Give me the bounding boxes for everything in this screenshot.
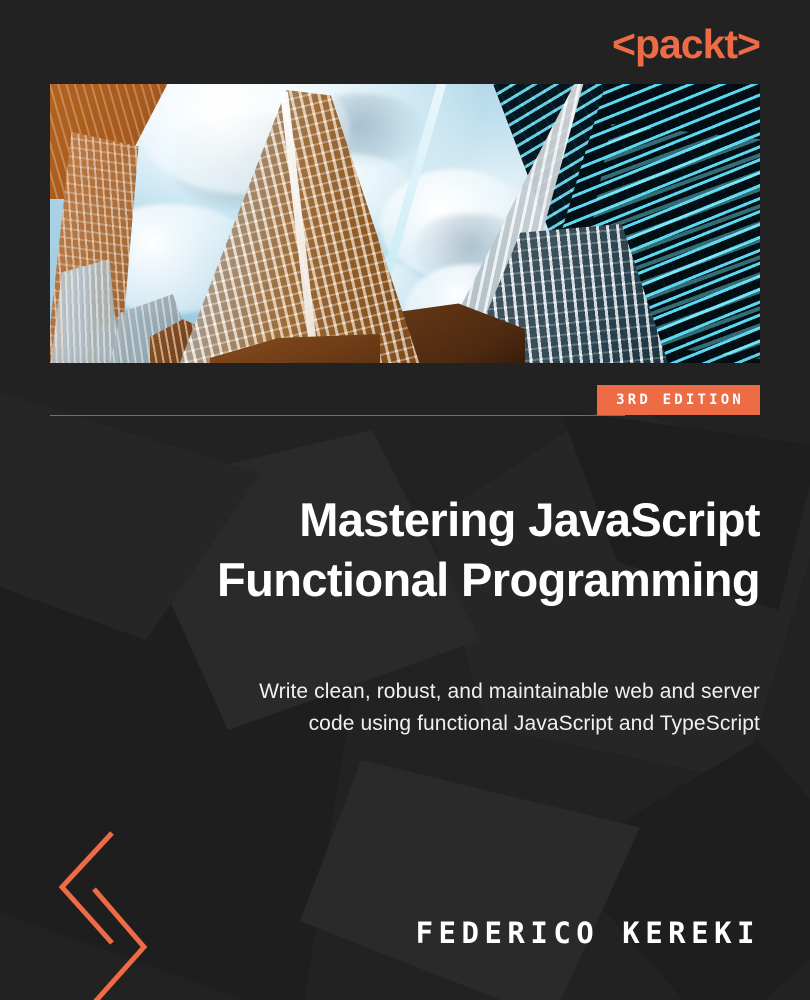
background-facet [560,740,810,1000]
book-cover: <packt> 3RD EDITION [0,0,810,1000]
edition-badge: 3RD EDITION [597,385,760,415]
book-subtitle-line-2: code using functional JavaScript and Typ… [70,708,760,740]
book-subtitle: Write clean, robust, and maintainable we… [70,676,760,740]
author-name: FEDERICO KEREKI [416,919,760,948]
image-vignette [50,84,760,363]
background-facet [300,760,640,1000]
book-title-line-1: Mastering JavaScript [70,490,760,550]
cover-hero-image [50,84,760,363]
divider [50,415,625,416]
zigzag-upper-chevron [62,833,112,943]
packt-logo-icon: <packt> [612,24,760,65]
book-title-line-2: Functional Programming [70,550,760,610]
book-subtitle-line-1: Write clean, robust, and maintainable we… [70,676,760,708]
zigzag-lower-chevron [94,889,144,1000]
book-title: Mastering JavaScript Functional Programm… [70,490,760,610]
orange-zigzag-chevron-mark [40,831,170,1000]
